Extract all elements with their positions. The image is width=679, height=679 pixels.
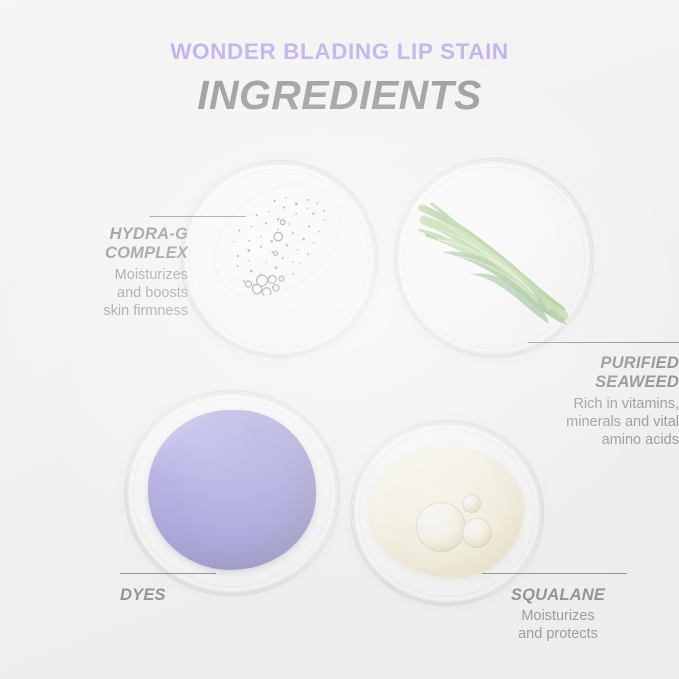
callout-title-line1: HYDRA-G <box>40 225 188 244</box>
leader-line <box>528 342 679 343</box>
callout-description: Rich in vitamins, minerals and vital ami… <box>528 396 679 450</box>
callout-title: DYES <box>120 586 240 605</box>
callout-description-line2: minerals and vital <box>528 414 679 432</box>
leader-line <box>482 573 627 574</box>
callout-description-line2: and protects <box>482 626 634 644</box>
callout-title-line2: COMPLEX <box>40 244 188 263</box>
callout-title: PURIFIED SEAWEED <box>528 354 679 393</box>
petri-dish-purified-seaweed <box>394 158 594 358</box>
callout-title: SQUALANE <box>482 586 634 605</box>
callout-purified-seaweed: PURIFIED SEAWEED Rich in vitamins, miner… <box>528 334 679 450</box>
product-name-kicker: WONDER BLADING LIP STAIN <box>0 40 679 65</box>
sample-clear-bubbled-gel <box>193 161 361 320</box>
leader-line <box>120 573 216 574</box>
callout-title: HYDRA-G COMPLEX <box>40 225 188 264</box>
callout-description-line3: skin firmness <box>40 303 188 321</box>
page-title: INGREDIENTS <box>0 74 679 117</box>
callout-description-line1: Moisturizes <box>40 267 188 285</box>
oil-bubble-large <box>416 502 466 552</box>
callout-description: Moisturizes and protects <box>482 608 634 644</box>
callout-title-line1: SQUALANE <box>482 586 634 605</box>
callout-description-line3: amino acids <box>528 432 679 450</box>
ingredients-infographic: WONDER BLADING LIP STAIN INGREDIENTS <box>0 0 679 679</box>
callout-title-line2: SEAWEED <box>528 373 679 392</box>
callout-dyes: DYES <box>120 566 240 605</box>
callout-description-line2: and boosts <box>40 285 188 303</box>
sample-green-seaweed-strands <box>412 186 580 334</box>
sample-blue-violet-powder <box>148 410 316 570</box>
oil-bubble-medium <box>462 518 492 548</box>
callout-hydra-g-complex: HYDRA-G COMPLEX Moisturizes and boosts s… <box>40 205 188 321</box>
heading-block: WONDER BLADING LIP STAIN INGREDIENTS <box>0 40 679 117</box>
leader-line <box>150 216 246 217</box>
callout-description-line1: Moisturizes <box>482 608 634 626</box>
callout-title-line1: DYES <box>120 586 240 605</box>
sample-cream-oil-droplets <box>370 446 524 578</box>
callout-description: Moisturizes and boosts skin firmness <box>40 267 188 321</box>
petri-dish-hydra-g-complex <box>180 160 378 358</box>
oil-bubble-small <box>462 494 481 513</box>
callout-title-line1: PURIFIED <box>528 354 679 373</box>
callout-squalane: SQUALANE Moisturizes and protects <box>482 566 634 644</box>
callout-description-line1: Rich in vitamins, <box>528 396 679 414</box>
